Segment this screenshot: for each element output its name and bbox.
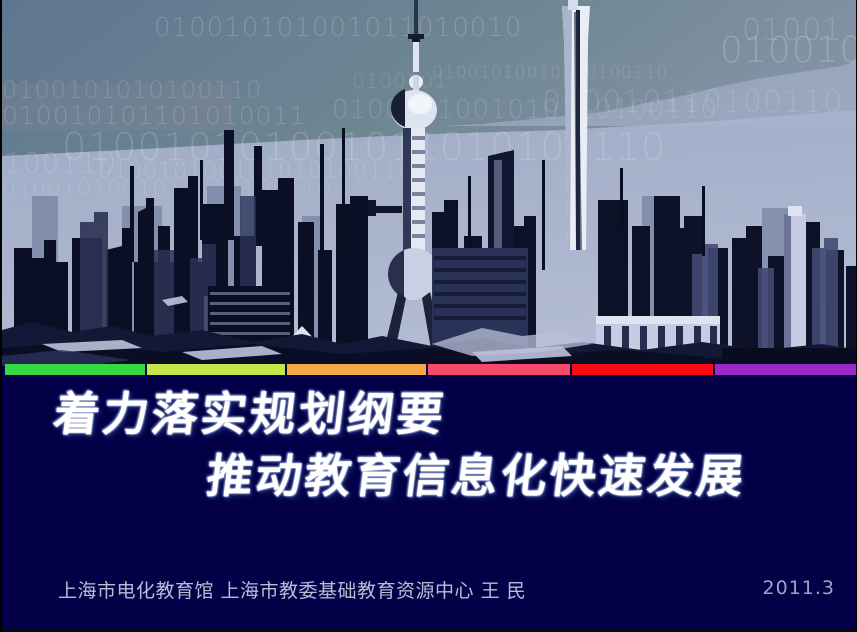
slide-title-block: 着力落实规划纲要 推动教育信息化快速发展 bbox=[2, 378, 857, 548]
colorbar-segment-orange bbox=[287, 364, 426, 375]
colorbar-segment-purple bbox=[715, 364, 857, 375]
slide-title-line-2: 推动教育信息化快速发展 bbox=[204, 448, 750, 504]
footer-credits-text: 上海市电化教育馆 上海市教委基础教育资源中心 王 民 bbox=[58, 576, 526, 603]
color-accent-bar bbox=[2, 364, 857, 375]
slide-title-line-1: 着力落实规划纲要 bbox=[51, 386, 450, 442]
footer-date-text: 2011.3 bbox=[763, 577, 835, 599]
slide-footer: 上海市电化教育馆 上海市教委基础教育资源中心 王 民 2011.3 bbox=[2, 564, 857, 630]
presentation-slide: 010010101001011010010 0100101 0100101001… bbox=[0, 0, 857, 632]
colorbar-segment-rose bbox=[428, 364, 570, 375]
colorbar-segment-yellowgreen bbox=[147, 364, 285, 375]
svg-text:01001010010110100110: 01001010010110100110 bbox=[432, 63, 668, 83]
svg-text:01001: 01001 bbox=[742, 13, 842, 48]
svg-text:0100101010100110: 0100101010100110 bbox=[2, 76, 262, 104]
light-tower-right bbox=[784, 206, 806, 366]
svg-text:010010101001011010010: 010010101001011010010 bbox=[154, 13, 522, 43]
colorbar-segment-red bbox=[572, 364, 713, 375]
svg-text:0100101: 0100101 bbox=[352, 69, 448, 93]
skyline-hero-image: 010010101001011010010 0100101 0100101001… bbox=[2, 0, 857, 366]
colorbar-segment-green bbox=[5, 364, 145, 375]
